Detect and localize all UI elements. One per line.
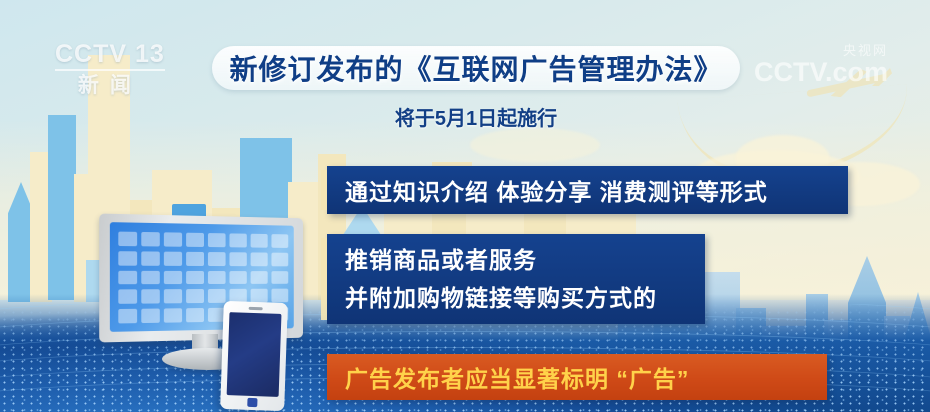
info-banner-3: 广告发布者应当显著标明 “广告”	[327, 354, 827, 400]
banner-left-edge	[321, 238, 327, 320]
info-banner-2: 推销商品或者服务 并附加购物链接等购买方式的	[327, 234, 705, 324]
cctv-logo-sub: 新闻	[55, 73, 165, 99]
page-title: 新修订发布的《互联网广告管理办法》	[212, 46, 740, 90]
broadcast-graphic: CCTV 13 新闻 央视网 CCTV.com 新修订发布的《互联网广告管理办法…	[0, 0, 930, 412]
watermark-cn-text: 央视网	[754, 44, 888, 58]
cctv-logo-text: CCTV 13	[55, 40, 165, 71]
info-banner-2-line1: 推销商品或者服务	[345, 241, 687, 279]
page-subtitle: 将于5月1日起施行	[212, 102, 740, 131]
cctv-channel-logo: CCTV 13 新闻	[55, 40, 165, 99]
info-banner-3-text: 广告发布者应当显著标明 “广告”	[345, 360, 809, 394]
tablet-home-button	[247, 398, 257, 407]
watermark-en-text: CCTV.com	[754, 58, 888, 86]
tablet-screen	[227, 312, 282, 397]
tablet-illustration	[220, 301, 288, 411]
info-banner-1-text: 通过知识介绍 体验分享 消费测评等形式	[345, 173, 830, 207]
banner-left-edge	[321, 170, 327, 210]
info-banner-1: 通过知识介绍 体验分享 消费测评等形式	[327, 166, 848, 214]
cctv-com-watermark: 央视网 CCTV.com	[754, 44, 888, 86]
info-banner-2-line2: 并附加购物链接等购买方式的	[345, 279, 687, 317]
tablet-camera	[249, 307, 263, 310]
